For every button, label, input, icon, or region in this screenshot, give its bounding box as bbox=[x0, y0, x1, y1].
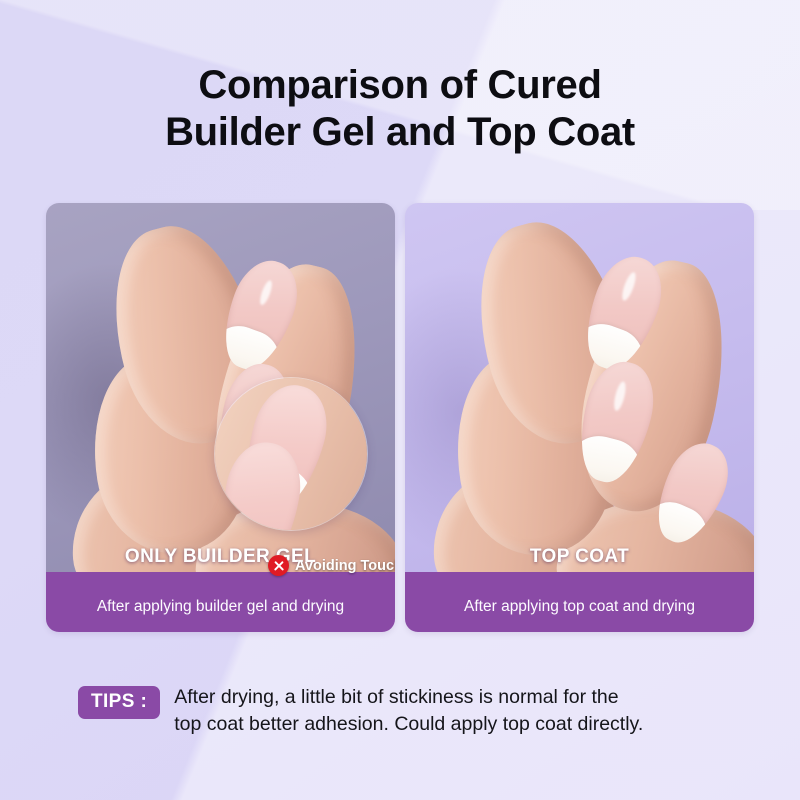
caption-title: TOP COAT bbox=[405, 546, 754, 568]
hand-illustration bbox=[46, 203, 395, 582]
magnifier-inset bbox=[215, 378, 367, 530]
avoiding-touch-label: Avoiding Touch bbox=[295, 558, 395, 574]
page-title: Comparison of Cured Builder Gel and Top … bbox=[0, 62, 800, 156]
caption-subtitle: After applying top coat and drying bbox=[464, 598, 695, 616]
avoiding-touch-badge: Avoiding Touch bbox=[268, 555, 395, 576]
panel-caption-top-coat: TOP COAT After applying top coat and dry… bbox=[405, 572, 754, 632]
panel-photo-top-coat bbox=[405, 203, 754, 582]
nail-shine bbox=[258, 279, 274, 306]
tips-text-line-1: After drying, a little bit of stickiness… bbox=[174, 684, 643, 711]
tips-text: After drying, a little bit of stickiness… bbox=[174, 684, 643, 738]
nail-shine bbox=[612, 380, 628, 411]
nail-shine bbox=[620, 271, 639, 302]
tips-text-line-2: top coat better adhesion. Could apply to… bbox=[174, 711, 643, 738]
caption-subtitle: After applying builder gel and drying bbox=[97, 598, 344, 616]
tips-badge: TIPS : bbox=[78, 686, 160, 719]
panel-photo-builder-gel: Avoiding Touch bbox=[46, 203, 395, 582]
panel-caption-builder-gel: ONLY BUILDER GEL After applying builder … bbox=[46, 572, 395, 632]
page-title-line-1: Comparison of Cured bbox=[0, 62, 800, 109]
comparison-panel-builder-gel[interactable]: Avoiding Touch ONLY BUILDER GEL After ap… bbox=[46, 203, 395, 632]
tips-section: TIPS : After drying, a little bit of sti… bbox=[78, 684, 738, 738]
circle-x-icon bbox=[268, 555, 289, 576]
comparison-panel-top-coat[interactable]: TOP COAT After applying top coat and dry… bbox=[405, 203, 754, 632]
hand-illustration bbox=[405, 203, 754, 582]
page-title-line-2: Builder Gel and Top Coat bbox=[0, 109, 800, 156]
